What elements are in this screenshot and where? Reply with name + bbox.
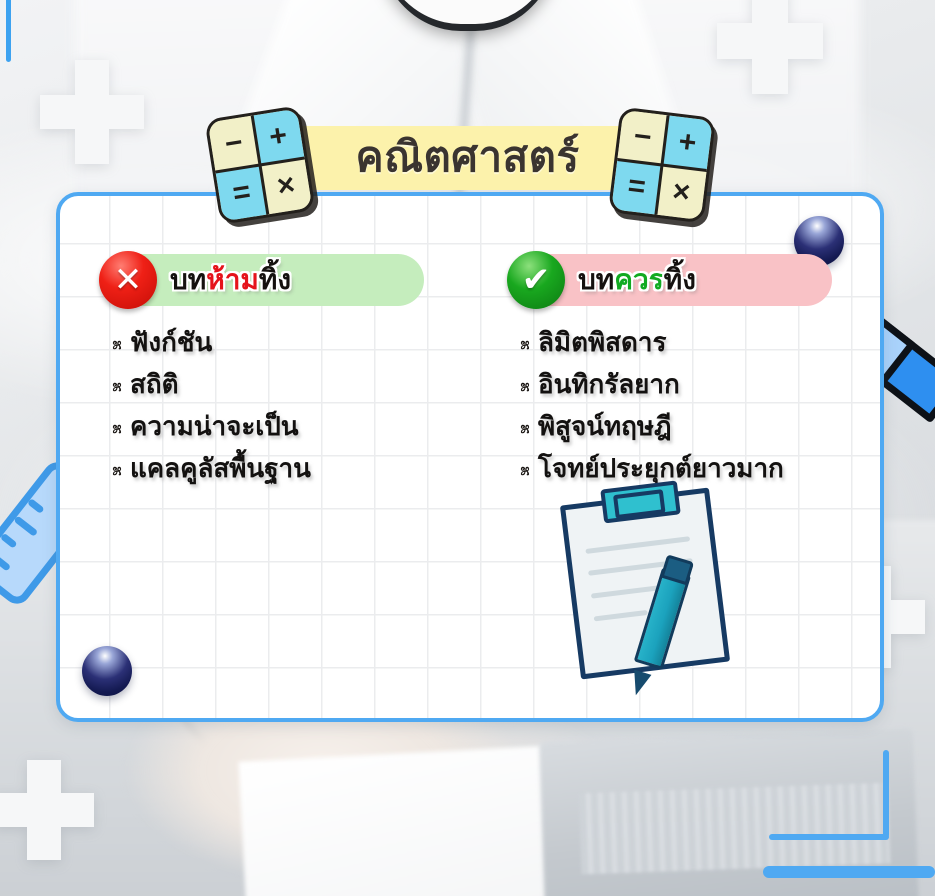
title-area: − + = × − + = × คณิตศาสตร์: [0, 112, 935, 204]
corner-bracket-horizontal: [769, 834, 889, 840]
bullet-icon: ೫: [104, 378, 130, 396]
list-item-label: ฟังก์ชัน: [130, 328, 212, 357]
list-item-label: ลิมิตพิสดาร: [538, 328, 666, 357]
header-label-left-prefix: บท: [170, 264, 206, 295]
main-card: ✕ บทห้ามทิ้ง ೫ ฟังก์ชัน ೫ สถิติ ೫ ความน่…: [56, 192, 884, 722]
bullet-icon: ೫: [104, 420, 130, 438]
header-label-right: บทควรทิ้ง: [578, 254, 696, 306]
list-item-label: โจทย์ประยุกต์ยาวมาก: [538, 454, 784, 483]
list-can-skip: ೫ ลิมิตพิสดาร ೫ อินทิกรัลยาก ೫ พิสูจน์ทฤ…: [512, 328, 884, 483]
background-paper: [239, 744, 585, 896]
list-item: ೫ อินทิกรัลยาก: [512, 370, 884, 399]
blue-bottom-bar: [763, 866, 935, 878]
list-item: ೫ พิสูจน์ทฤษฎี: [512, 412, 884, 441]
header-label-right-prefix: บท: [578, 264, 614, 295]
blue-accent-line-left: [6, 0, 11, 62]
list-item: ೫ แคลคูลัสพื้นฐาน: [104, 454, 494, 483]
header-label-left: บทห้ามทิ้ง: [170, 254, 291, 306]
list-item-label: อินทิกรัลยาก: [538, 370, 680, 399]
header-label-right-highlight: ควร: [614, 264, 664, 295]
green-check-icon: ✔: [507, 251, 565, 309]
clipboard-icon: [560, 488, 730, 680]
header-pill-right: ✔ บทควรทิ้ง: [512, 254, 832, 306]
header-pill-left: ✕ บทห้ามทิ้ง: [104, 254, 424, 306]
bullet-icon: ೫: [512, 462, 538, 480]
list-item: ೫ สถิติ: [104, 370, 494, 399]
list-must-not-skip: ೫ ฟังก์ชัน ೫ สถิติ ೫ ความน่าจะเป็น ೫ แคล…: [104, 328, 494, 483]
list-item-label: พิสูจน์ทฤษฎี: [538, 412, 672, 441]
navy-sphere-icon: [82, 646, 132, 696]
bullet-icon: ೫: [512, 378, 538, 396]
column-must-not-skip: ✕ บทห้ามทิ้ง ೫ ฟังก์ชัน ೫ สถิติ ೫ ความน่…: [104, 254, 494, 496]
bullet-icon: ೫: [512, 420, 538, 438]
list-item: ೫ ลิมิตพิสดาร: [512, 328, 884, 357]
list-item: ೫ ความน่าจะเป็น: [104, 412, 494, 441]
corner-bracket-vertical: [883, 750, 889, 838]
green-check-glyph: ✔: [522, 263, 551, 297]
red-x-glyph: ✕: [114, 263, 143, 297]
list-item-label: ความน่าจะเป็น: [130, 412, 298, 441]
bullet-icon: ೫: [512, 336, 538, 354]
header-label-right-suffix: ทิ้ง: [664, 264, 696, 295]
list-item-label: แคลคูลัสพื้นฐาน: [130, 454, 311, 483]
list-item: ೫ โจทย์ประยุกต์ยาวมาก: [512, 454, 884, 483]
plus-shape-icon: [0, 760, 94, 860]
red-x-icon: ✕: [99, 251, 157, 309]
bullet-icon: ೫: [104, 336, 130, 354]
list-item: ೫ ฟังก์ชัน: [104, 328, 494, 357]
blue-corner-bracket: [769, 750, 917, 840]
column-can-skip: ✔ บทควรทิ้ง ೫ ลิมิตพิสดาร ೫ อินทิกรัลยาก…: [512, 254, 884, 496]
page-title: คณิตศาสตร์: [188, 122, 748, 192]
list-item-label: สถิติ: [130, 370, 179, 399]
header-label-left-suffix: ทิ้ง: [259, 264, 291, 295]
plus-shape-icon: [717, 0, 823, 94]
header-label-left-highlight: ห้าม: [206, 264, 259, 295]
bullet-icon: ೫: [104, 462, 130, 480]
